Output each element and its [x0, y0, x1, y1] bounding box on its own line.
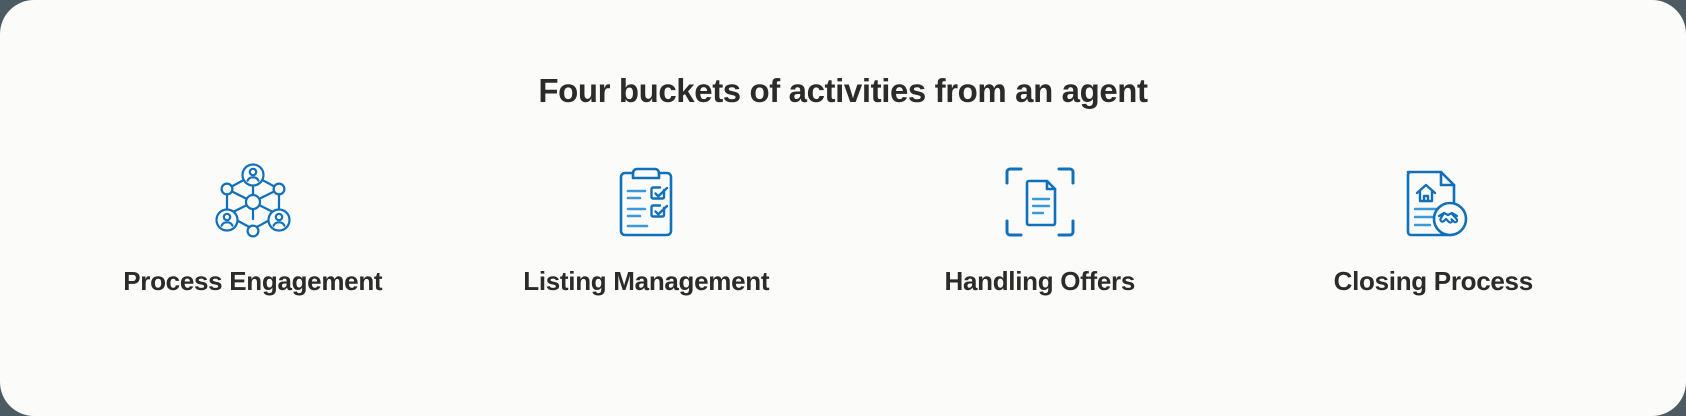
document-scan-icon: [1001, 163, 1079, 241]
bucket-item-process-engagement: Process Engagement: [56, 163, 450, 296]
clipboard-checklist-icon: [607, 163, 685, 241]
house-document-handshake-icon: [1394, 163, 1472, 241]
network-people-icon: [214, 163, 292, 241]
bucket-item-handling-offers: Handling Offers: [843, 163, 1237, 296]
bucket-label: Listing Management: [523, 267, 769, 296]
bucket-label: Process Engagement: [123, 267, 382, 296]
bucket-item-closing-process: Closing Process: [1237, 163, 1631, 296]
bucket-list: Process Engagement: [0, 163, 1686, 296]
info-card: Four buckets of activities from an agent: [0, 0, 1686, 416]
bucket-label: Handling Offers: [944, 267, 1135, 296]
bucket-item-listing-management: Listing Management: [450, 163, 844, 296]
bucket-label: Closing Process: [1334, 267, 1533, 296]
page-title: Four buckets of activities from an agent: [538, 74, 1147, 107]
